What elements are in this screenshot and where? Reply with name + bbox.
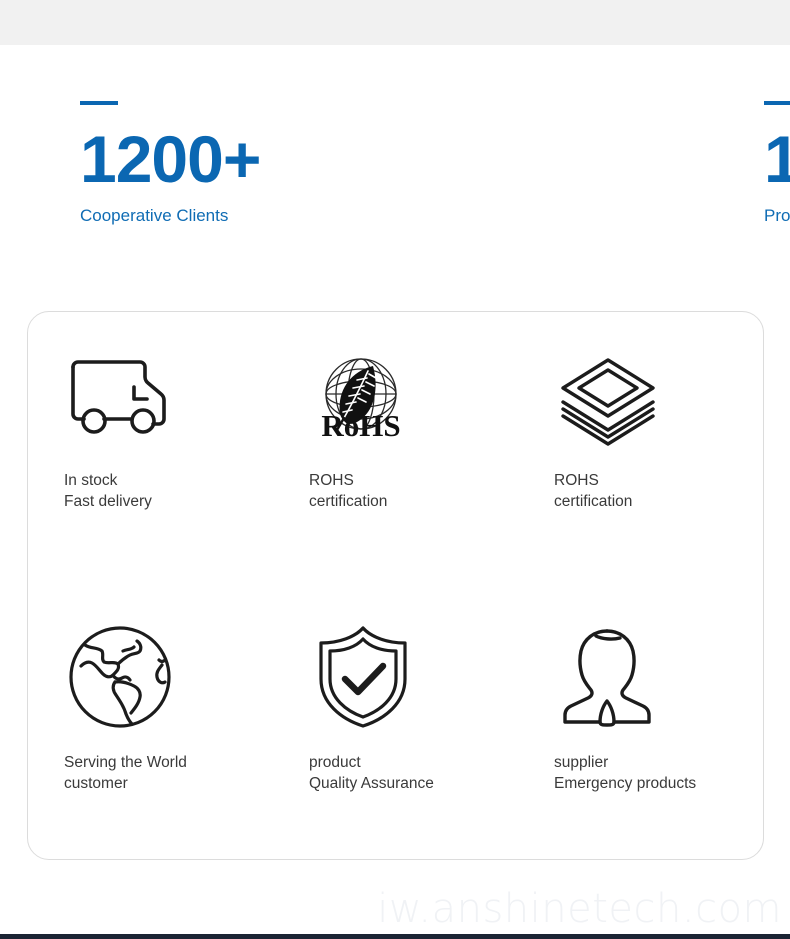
- stats-section: 1200+ Cooperative Clients 10Years Profes…: [0, 45, 790, 295]
- feature-cell-layers: ROHS certification: [518, 312, 763, 586]
- feature-cell-quality-assurance: product Quality Assurance: [273, 586, 518, 860]
- feature-label: ROHS certification: [554, 470, 763, 512]
- bottom-navy-bar: [0, 934, 790, 939]
- site-watermark: iw.anshinetech.com: [377, 887, 782, 931]
- features-card: In stock Fast delivery: [27, 311, 764, 860]
- feature-cell-supplier: supplier Emergency products: [518, 586, 763, 860]
- feature-label: product Quality Assurance: [309, 752, 518, 794]
- feature-cell-serving-world: Serving the World customer: [28, 586, 273, 860]
- shield-check-icon: [309, 618, 518, 736]
- feature-label: ROHS certification: [309, 470, 518, 512]
- globe-americas-icon: [64, 618, 273, 736]
- stat-accent-dash: [80, 101, 118, 105]
- person-supplier-icon: [554, 618, 763, 736]
- layers-stack-icon: [554, 344, 763, 456]
- feature-cell-rohs-certification: RoHS ROHS certification: [273, 312, 518, 586]
- stat-accent-dash: [764, 101, 790, 105]
- stat-block-years: 10Years Professional production: [302, 45, 764, 295]
- feature-cell-in-stock: In stock Fast delivery: [28, 312, 273, 586]
- feature-label: Serving the World customer: [64, 752, 273, 794]
- rohs-wordmark: RoHS: [321, 408, 400, 443]
- features-grid: In stock Fast delivery: [28, 312, 763, 859]
- feature-label: supplier Emergency products: [554, 752, 763, 794]
- feature-label: In stock Fast delivery: [64, 470, 273, 512]
- delivery-truck-icon: [64, 344, 273, 456]
- top-gray-band: [0, 0, 790, 45]
- rohs-leaf-globe-icon: RoHS: [309, 344, 518, 456]
